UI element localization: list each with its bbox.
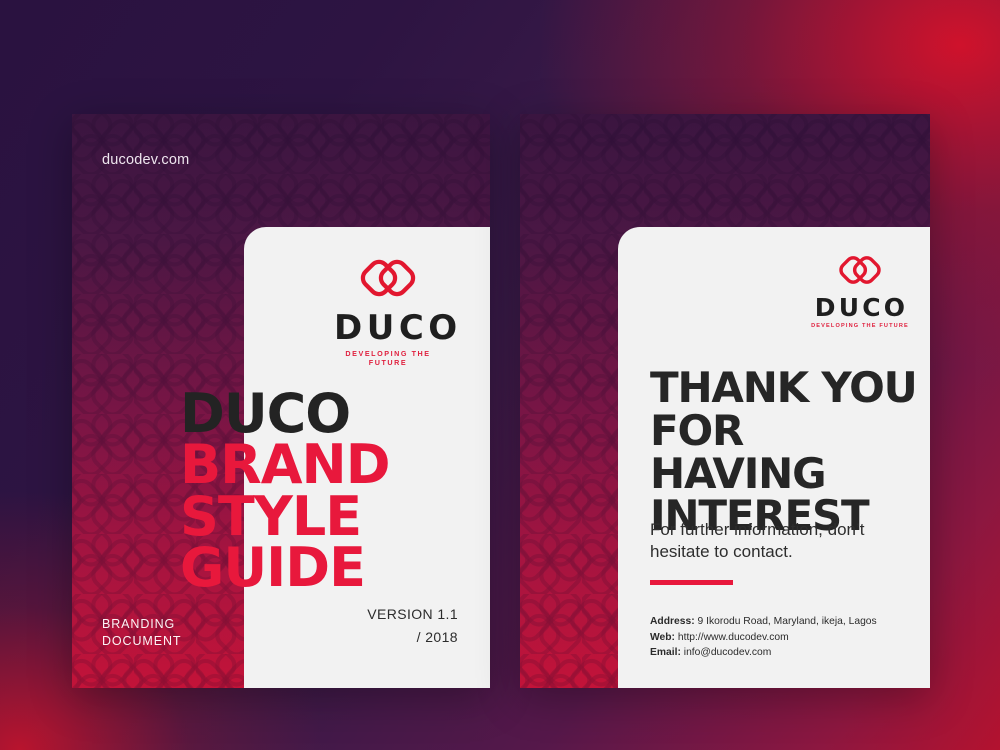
contact-value-address: 9 Ikorodu Road, Maryland, ikeja, Lagos [698,616,877,627]
duco-interlocking-diamonds-icon [838,254,882,289]
poster-canvas: ducodev.com BRANDING DOCUMENT DUCO DEVEL… [0,0,1000,750]
duco-tagline: DEVELOPING THE FUTURE [330,349,446,367]
version-label: VERSION 1.1 / 2018 [367,603,458,648]
duco-logo-lockup: DUCO DEVELOPING THE FUTURE [810,254,910,329]
contact-value-web[interactable]: http://www.ducodev.com [678,632,789,643]
document-type-line-2: DOCUMENT [102,633,181,650]
brand-guide-cover-card: ducodev.com BRANDING DOCUMENT DUCO DEVEL… [72,114,490,688]
contact-row-address: Address: 9 Ikorodu Road, Maryland, ikeja… [650,614,900,630]
contact-details: Address: 9 Ikorodu Road, Maryland, ikeja… [650,614,900,661]
contact-row-web: Web: http://www.ducodev.com [650,630,900,646]
contact-label-web: Web: [650,632,675,643]
thank-you-line-2: FOR HAVING [650,410,920,496]
duco-logo-lockup: DUCO DEVELOPING THE FUTURE [330,257,446,367]
version-line-2: / 2018 [367,626,458,648]
site-url-label: ducodev.com [102,152,189,168]
contact-subtext: For further information, don’t hesitate … [650,519,900,564]
cover-title: DUCO BRAND STYLE GUIDE [180,388,430,593]
contact-row-email: Email: info@ducodev.com [650,645,900,661]
cover-title-line-2: BRAND [180,439,430,490]
thank-you-back-card: DUCO DEVELOPING THE FUTURE THANK YOU FOR… [520,114,930,688]
contact-label-address: Address: [650,616,695,627]
thank-you-line-1: THANK YOU [650,367,920,410]
thank-you-headline: THANK YOU FOR HAVING INTEREST [650,367,920,538]
document-type-line-1: BRANDING [102,616,181,633]
cover-title-line-1: DUCO [180,388,430,439]
contact-label-email: Email: [650,647,681,658]
duco-tagline: DEVELOPING THE FUTURE [810,323,910,329]
cover-title-line-4: GUIDE [180,542,430,593]
duco-interlocking-diamonds-icon [359,257,417,303]
duco-wordmark: DUCO [330,311,446,345]
contact-value-email[interactable]: info@ducodev.com [684,647,772,658]
version-line-1: VERSION 1.1 [367,603,458,625]
document-type-label: BRANDING DOCUMENT [102,616,181,650]
duco-wordmark: DUCO [810,295,910,320]
red-divider-rule [650,580,733,585]
cover-title-line-3: STYLE [180,491,430,542]
